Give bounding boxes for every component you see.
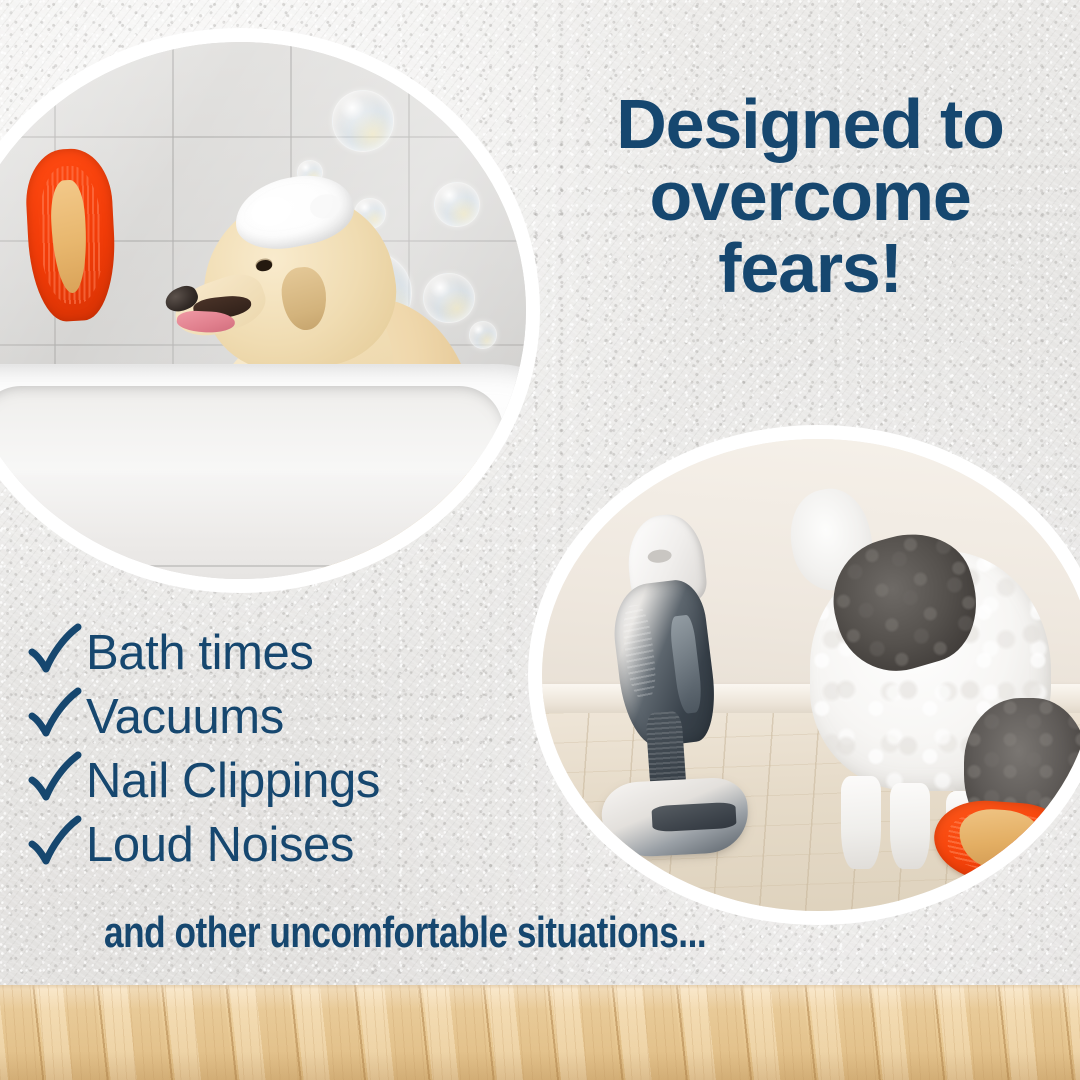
wood-floor-top-edge (0, 985, 1080, 989)
headline-line-3: fears! (560, 232, 1060, 304)
dog-ear (280, 265, 330, 332)
checklist-item-loud-noises: Loud Noises (24, 814, 544, 876)
living-room-scene (542, 439, 1080, 911)
headline-line-2: overcome (560, 160, 1060, 232)
vacuum-photo-inner (542, 439, 1080, 911)
tagline: and other uncomfortable situations... (104, 908, 706, 958)
wood-floor-strip (0, 985, 1080, 1080)
lick-mat-on-floor (931, 798, 1074, 888)
check-mark-icon (24, 686, 86, 748)
check-mark-icon (24, 622, 86, 684)
soap-bubble (332, 90, 395, 152)
soap-foam-hat (229, 166, 359, 257)
checklist-item-label: Nail Clippings (86, 757, 380, 806)
lick-mat-on-wall (24, 147, 119, 323)
vacuum-cleaner (592, 515, 758, 855)
promo-image-stage: Designed to overcome fears! Bath times V… (0, 0, 1080, 1080)
benefit-checklist: Bath times Vacuums Nail Clippings (24, 622, 544, 878)
check-mark-icon (24, 814, 86, 876)
checklist-item-label: Vacuums (86, 693, 284, 742)
checklist-item-vacuums: Vacuums (24, 686, 544, 748)
checklist-item-bath-times: Bath times (24, 622, 544, 684)
checklist-item-nail-clippings: Nail Clippings (24, 750, 544, 812)
headline-line-1: Designed to (560, 88, 1060, 160)
golden-retriever-bath-photo (0, 28, 540, 593)
vacuum-floor-head (600, 776, 749, 858)
bathtub (0, 364, 526, 579)
dog-eye (255, 259, 273, 272)
bath-scene (0, 42, 526, 579)
dog-leg (841, 776, 881, 869)
headline: Designed to overcome fears! (560, 88, 1060, 304)
checklist-item-label: Bath times (86, 629, 313, 678)
bath-photo-inner (0, 42, 526, 579)
doodle-dog-vacuum-photo (528, 425, 1080, 925)
checklist-item-label: Loud Noises (86, 821, 354, 870)
dog-leg (890, 783, 930, 868)
check-mark-icon (24, 750, 86, 812)
